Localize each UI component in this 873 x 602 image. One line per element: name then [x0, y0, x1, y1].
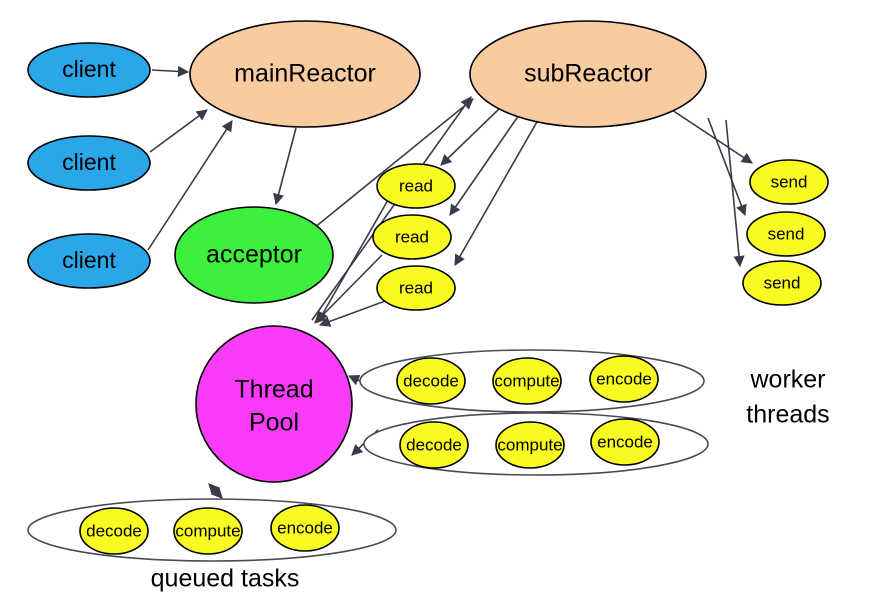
node-client-1[interactable]: client: [28, 43, 150, 97]
edge-subreactor-to-send-1: [672, 110, 752, 163]
node-read-3-label: read: [399, 278, 433, 297]
queued-task-encode[interactable]: encode: [271, 505, 339, 551]
edge-mainreactor-to-acceptor: [276, 128, 296, 204]
queued-task-encode-label: encode: [277, 518, 333, 537]
worker-task-row2-encode[interactable]: encode: [591, 419, 659, 465]
node-read-3[interactable]: read: [377, 266, 455, 310]
worker-task-row1-decode-label: decode: [403, 371, 459, 390]
node-main-reactor[interactable]: mainReactor: [190, 21, 420, 127]
worker-task-row1-decode[interactable]: decode: [397, 358, 465, 404]
node-client-3[interactable]: client: [28, 234, 150, 288]
worker-task-row1-compute[interactable]: compute: [493, 358, 561, 404]
node-main-reactor-label: mainReactor: [234, 60, 376, 88]
worker-task-row2-decode-label: decode: [406, 435, 462, 454]
node-send-1-label: send: [771, 172, 808, 191]
reactor-pattern-diagram: client client client mainReactor subReac…: [0, 0, 873, 602]
node-sub-reactor-label: subReactor: [524, 60, 652, 88]
queued-task-decode[interactable]: decode: [80, 508, 148, 554]
node-read-1[interactable]: read: [377, 164, 455, 208]
worker-task-row1-compute-label: compute: [494, 371, 559, 390]
node-acceptor[interactable]: acceptor: [175, 207, 333, 303]
node-sub-reactor[interactable]: subReactor: [470, 21, 706, 127]
queued-task-decode-label: decode: [86, 521, 142, 540]
worker-task-row1-encode-label: encode: [596, 369, 652, 388]
node-read-2-label: read: [395, 227, 429, 246]
worker-task-row2-compute[interactable]: compute: [496, 422, 564, 468]
worker-task-row1-encode[interactable]: encode: [590, 356, 658, 402]
node-read-2[interactable]: read: [373, 215, 451, 259]
node-thread-pool-label-line1: Thread: [234, 376, 313, 404]
worker-task-row2-encode-label: encode: [597, 432, 653, 451]
edge-read-3-to-threadpool: [320, 300, 388, 325]
queued-task-compute[interactable]: compute: [174, 508, 242, 554]
edge-subreactor-to-send-3: [726, 120, 740, 266]
node-thread-pool[interactable]: Thread Pool: [196, 326, 352, 482]
node-send-2[interactable]: send: [747, 212, 825, 256]
worker-task-row2-decode[interactable]: decode: [400, 422, 468, 468]
node-acceptor-label: acceptor: [206, 241, 302, 269]
edge-client2-to-mainreactor: [150, 110, 207, 152]
node-client-3-label: client: [62, 247, 116, 273]
node-client-2-label: client: [62, 149, 116, 175]
edge-client1-to-mainreactor: [152, 70, 188, 72]
worker-task-row2-compute-label: compute: [497, 435, 562, 454]
node-read-1-label: read: [399, 176, 433, 195]
worker-threads-caption-line2: threads: [746, 401, 829, 429]
edge-threadpool-to-queued-tasks: [209, 484, 222, 498]
node-client-1-label: client: [62, 56, 116, 82]
node-client-2[interactable]: client: [28, 136, 150, 190]
node-thread-pool-label-line2: Pool: [249, 409, 299, 437]
queued-task-compute-label: compute: [175, 521, 240, 540]
node-send-2-label: send: [768, 224, 805, 243]
node-send-1[interactable]: send: [750, 160, 828, 204]
edge-subreactor-to-read-2: [450, 112, 521, 215]
node-send-3[interactable]: send: [743, 261, 821, 305]
queued-tasks-caption: queued tasks: [151, 565, 300, 593]
worker-threads-caption-line1: worker: [749, 366, 825, 394]
node-send-3-label: send: [764, 273, 801, 292]
